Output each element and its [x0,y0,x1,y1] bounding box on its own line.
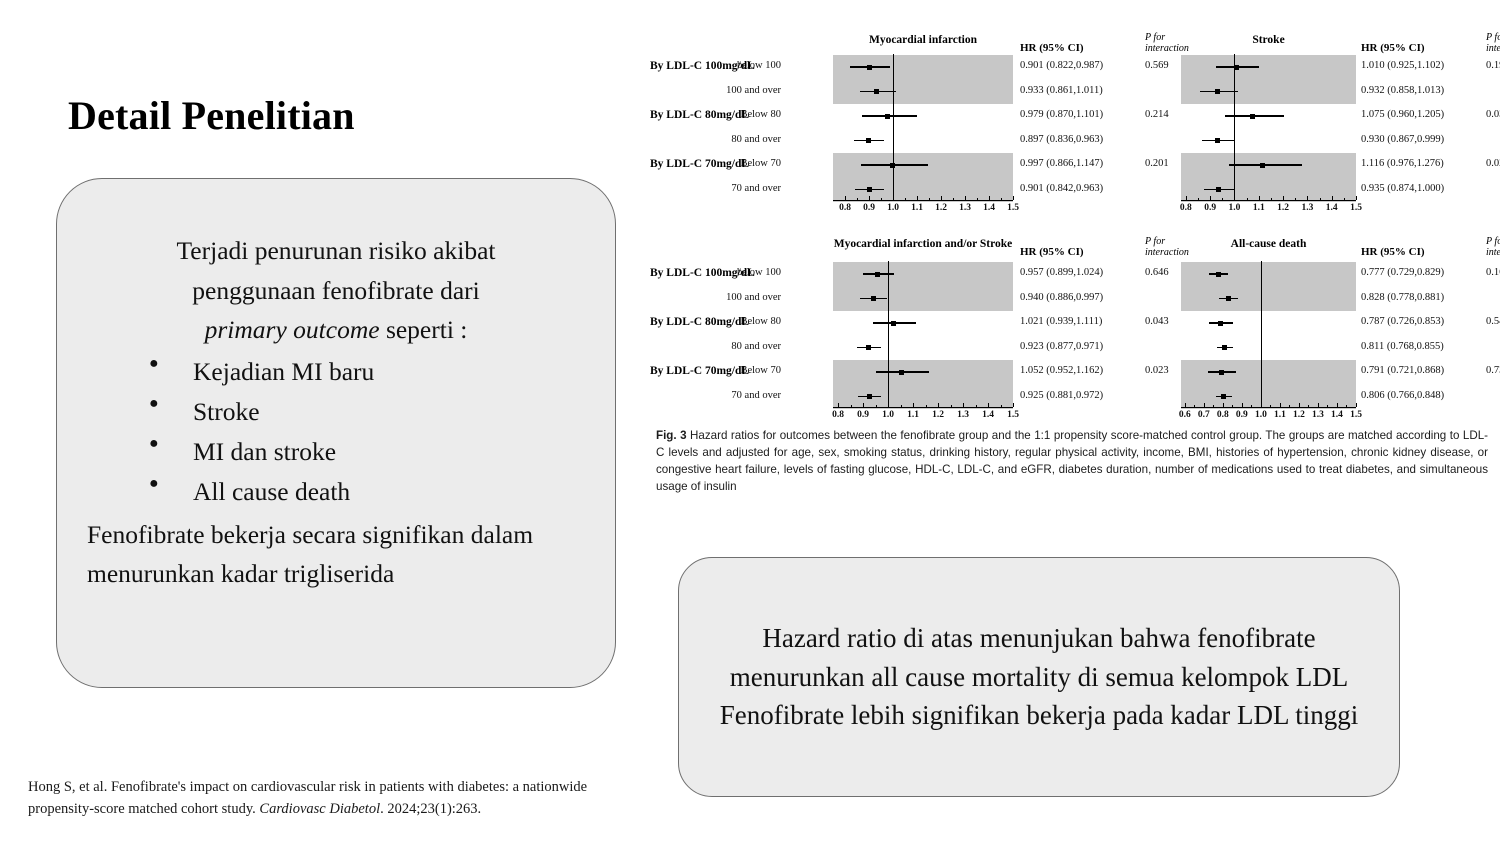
hazard-ratio-point [890,163,895,168]
hazard-ratio-point [874,89,879,94]
x-axis-tick-label: 1.2 [1293,410,1305,420]
hr-column-header-3: HR (95% CI) [1361,246,1425,258]
x-axis-minor-tick [1001,198,1002,201]
x-axis-minor-tick [1346,405,1347,408]
hr-value: 0.901 (0.842,0.963) [1020,183,1103,194]
x-axis-tick-label: 1.3 [959,203,971,213]
x-axis-tick-label: 0.8 [839,203,851,213]
x-axis-line [1181,200,1356,201]
x-axis-minor-tick [1001,405,1002,408]
x-axis-minor-tick [876,405,877,408]
forest-plot-area-2 [833,261,1013,408]
hazard-ratio-point [1226,296,1231,301]
p-header-line-1: P for [1145,32,1189,43]
x-axis-tick [888,403,889,407]
hazard-ratio-point [1260,163,1265,168]
x-axis-minor-tick [926,405,927,408]
x-axis-tick [963,403,964,407]
group-label: By LDL-C 100mg/dL [650,267,755,279]
p-interaction-value: 0.195 [1486,60,1500,71]
x-axis-minor-tick [1213,405,1214,408]
x-axis-tick [1283,196,1284,200]
intro-line-2: penggunaan fenofibrate dari [87,271,585,311]
x-axis-tick-label: 0.6 [1179,410,1191,420]
x-axis-tick-label: 0.9 [1204,203,1216,213]
figure-caption: Fig. 3 Hazard ratios for outcomes betwee… [656,427,1488,496]
shaded-band [833,360,1013,409]
x-axis-minor-tick [1295,198,1296,201]
group-label: By LDL-C 80mg/dL [650,316,749,328]
x-axis-tick [941,196,942,200]
x-axis-tick [869,196,870,200]
shaded-band [1181,262,1356,311]
x-axis-tick-label: 1.0 [887,203,899,213]
hr-column-header-1: HR (95% CI) [1361,42,1425,54]
p-header-line-2: interaction [1145,247,1189,258]
group-label: By LDL-C 80mg/dL [650,109,749,121]
null-reference-line [888,261,889,408]
hr-value: 0.979 (0.870,1.101) [1020,109,1103,120]
p-interaction-value: 0.043 [1145,316,1169,327]
hazard-ratio-point [1222,345,1227,350]
list-item: Kejadian MI baru [87,352,585,392]
hazard-ratio-point [867,394,872,399]
hr-value: 0.940 (0.886,0.997) [1020,292,1103,303]
x-axis-tick-label: 0.9 [1236,410,1248,420]
x-axis-line [833,200,1013,201]
x-axis-minor-tick [901,405,902,408]
hr-value: 0.925 (0.881,0.972) [1020,390,1103,401]
x-axis-tick-label: 1.2 [1277,203,1289,213]
intro-line-3-rest: seperti : [380,315,468,344]
x-axis-tick-label: 1.4 [982,410,994,420]
x-axis-minor-tick [951,405,952,408]
x-axis-tick [838,403,839,407]
shaded-band [1181,153,1356,202]
x-axis-tick-label: 1.1 [911,203,923,213]
x-axis-tick-label: 1.1 [1253,203,1265,213]
row-sublabel: 100 and over [701,292,781,303]
hazard-ratio-point [1216,187,1221,192]
hazard-ratio-point [1250,114,1255,119]
x-axis-minor-tick [976,405,977,408]
x-axis-minor-tick [929,198,930,201]
x-axis-tick [1356,196,1357,200]
row-sublabel: 100 and over [701,85,781,96]
hazard-ratio-point [871,296,876,301]
x-axis-tick-label: 1.1 [907,410,919,420]
x-axis-tick-label: 1.3 [1301,203,1313,213]
x-axis-tick [1185,403,1186,407]
x-axis-minor-tick [977,198,978,201]
hr-value: 1.052 (0.952,1.162) [1020,365,1103,376]
hr-value: 1.021 (0.939,1.111) [1020,316,1102,327]
x-axis-tick [845,196,846,200]
hr-value: 1.116 (0.976,1.276) [1361,158,1444,169]
x-axis-tick-label: 1.2 [935,203,947,213]
p-header-line-1: P for [1145,236,1189,247]
x-axis-tick-label: 1.5 [1007,410,1019,420]
x-axis-minor-tick [857,198,858,201]
p-interaction-value: 0.646 [1145,267,1169,278]
figure-caption-label: Fig. 3 [656,429,687,442]
citation-journal: Cardiovasc Diabetol [259,801,380,817]
x-axis-tick [965,196,966,200]
intro-line-1: Terjadi penurunan risiko akibat [87,231,585,271]
p-header-line-1: P for [1486,236,1500,247]
hazard-ratio-point [891,321,896,326]
hr-value: 1.075 (0.960,1.205) [1361,109,1444,120]
hr-column-header-0: HR (95% CI) [1020,42,1084,54]
x-axis-tick-label: 1.4 [1326,203,1338,213]
hr-value: 0.897 (0.836,0.963) [1020,134,1103,145]
x-axis-tick [1280,403,1281,407]
conclusion-text: Hazard ratio di atas menunjukan bahwa fe… [679,619,1399,735]
hazard-ratio-point [1215,89,1220,94]
null-reference-line [1261,261,1262,408]
x-axis-minor-tick [1320,198,1321,201]
hazard-ratio-point [875,272,880,277]
null-reference-line [893,54,894,201]
hazard-ratio-point [867,65,872,70]
shaded-band [833,262,1013,311]
x-axis-tick-label: 1.0 [1255,410,1267,420]
x-axis-tick-label: 1.3 [957,410,969,420]
hazard-ratio-point [1216,272,1221,277]
x-axis-tick-label: 0.9 [863,203,875,213]
x-axis-tick [938,403,939,407]
hazard-ratio-point [1234,65,1239,70]
x-axis-tick [863,403,864,407]
p-interaction-value: 0.214 [1145,109,1169,120]
group-label: By LDL-C 70mg/dL [650,365,749,377]
list-item: Stroke [87,392,585,432]
x-axis-minor-tick [881,198,882,201]
x-axis-minor-tick [953,198,954,201]
p-interaction-value: 0.023 [1145,365,1169,376]
x-axis-minor-tick [1289,405,1290,408]
shaded-band [1181,55,1356,104]
x-axis-tick-label: 0.7 [1198,410,1210,420]
x-axis-tick-label: 1.5 [1007,203,1019,213]
x-axis-tick-label: 1.5 [1350,203,1362,213]
x-axis-tick [989,196,990,200]
x-axis-tick [1261,403,1262,407]
row-sublabel: 70 and over [701,390,781,401]
p-interaction-value: 0.034 [1486,109,1500,120]
figure-caption-text: Hazard ratios for outcomes between the f… [656,429,1488,493]
hr-value: 0.935 (0.874,1.000) [1361,183,1444,194]
p-interaction-value: 0.735 [1486,365,1500,376]
x-axis-minor-tick [1344,198,1345,201]
x-axis-tick-label: 0.9 [857,410,869,420]
hr-value: 1.010 (0.925,1.102) [1361,60,1444,71]
shaded-band [833,153,1013,202]
p-header-line-1: P for [1486,32,1500,43]
row-sublabel: 80 and over [701,341,781,352]
x-axis-tick-label: 0.8 [1180,203,1192,213]
group-label: By LDL-C 100mg/dL [650,60,755,72]
forest-plot-area-0 [833,54,1013,201]
x-axis-minor-tick [905,198,906,201]
x-axis-minor-tick [1222,198,1223,201]
x-axis-tick [893,196,894,200]
x-axis-tick [913,403,914,407]
hazard-ratio-point [899,370,904,375]
hazard-ratio-point [866,138,871,143]
hr-value: 0.933 (0.861,1.011) [1020,85,1103,96]
x-axis-tick-label: 1.2 [932,410,944,420]
x-axis-tick [1186,196,1187,200]
x-axis-tick [1204,403,1205,407]
hr-value: 0.828 (0.778,0.881) [1361,292,1444,303]
p-interaction-value: 0.168 [1486,267,1500,278]
x-axis-tick-label: 1.0 [882,410,894,420]
x-axis-tick-label: 1.4 [1331,410,1343,420]
shaded-band [833,55,1013,104]
x-axis-minor-tick [1308,405,1309,408]
x-axis-tick-label: 1.3 [1312,410,1324,420]
hazard-ratio-point [1218,321,1223,326]
x-axis-tick [1356,403,1357,407]
hazard-ratio-point [866,345,871,350]
hazard-ratio-point [1215,138,1220,143]
list-item: All cause death [87,472,585,512]
p-interaction-column-header-0: P forinteraction [1145,32,1189,54]
hr-column-header-2: HR (95% CI) [1020,246,1084,258]
x-axis-tick [1307,196,1308,200]
x-axis-minor-tick [1251,405,1252,408]
panel-title-1: Stroke [1252,34,1284,46]
x-axis-tick-label: 0.8 [832,410,844,420]
panel-title-3: All-cause death [1231,238,1307,250]
citation: Hong S, et al. Fenofibrate's impact on c… [28,777,628,821]
hr-value: 0.901 (0.822,0.987) [1020,60,1103,71]
x-axis-tick [1013,403,1014,407]
p-interaction-value: 0.021 [1486,158,1500,169]
conclusion-box: Hazard ratio di atas menunjukan bahwa fe… [678,557,1400,797]
hr-value: 0.957 (0.899,1.024) [1020,267,1103,278]
hazard-ratio-point [1221,394,1226,399]
hr-value: 0.791 (0.721,0.868) [1361,365,1444,376]
hr-value: 0.811 (0.768,0.855) [1361,341,1444,352]
page-title: Detail Penelitian [68,92,355,139]
x-axis-minor-tick [1271,198,1272,201]
hr-value: 0.930 (0.867,0.999) [1361,134,1444,145]
x-axis-tick [1013,196,1014,200]
x-axis-minor-tick [851,405,852,408]
x-axis-tick-label: 1.4 [983,203,995,213]
hazard-ratio-point [885,114,890,119]
x-axis-tick [988,403,989,407]
p-interaction-column-header-3: P forinteraction [1486,236,1500,258]
forest-plot-area-3 [1181,261,1356,408]
outcome-list: Kejadian MI baru Stroke MI dan stroke Al… [87,352,585,513]
detail-penelitian-content: Terjadi penurunan risiko akibat pengguna… [57,179,615,687]
hr-value: 0.777 (0.729,0.829) [1361,267,1444,278]
x-axis-tick [917,196,918,200]
list-item: MI dan stroke [87,432,585,472]
primary-outcome-emphasis: primary outcome [205,315,380,344]
hazard-ratio-point [867,187,872,192]
x-axis-tick [1337,403,1338,407]
detail-penelitian-box: Terjadi penurunan risiko akibat pengguna… [56,178,616,688]
x-axis-minor-tick [1232,405,1233,408]
x-axis-minor-tick [1270,405,1271,408]
x-axis-minor-tick [1247,198,1248,201]
panel-title-2: Myocardial infarction and/or Stroke [834,238,1013,250]
hr-value: 0.997 (0.866,1.147) [1020,158,1103,169]
x-axis-tick [1332,196,1333,200]
x-axis-tick [1318,403,1319,407]
x-axis-tick [1259,196,1260,200]
p-header-line-2: interaction [1145,43,1189,54]
p-header-line-2: interaction [1486,43,1500,54]
panel-title-0: Myocardial infarction [869,34,977,46]
p-interaction-value: 0.549 [1486,316,1500,327]
p-interaction-value: 0.201 [1145,158,1169,169]
x-axis-minor-tick [1194,405,1195,408]
closing-paragraph: Fenofibrate bekerja secara signifikan da… [87,515,585,594]
hr-value: 0.806 (0.766,0.848) [1361,390,1444,401]
null-reference-line [1234,54,1235,201]
intro-line-3: primary outcome seperti : [87,310,585,350]
x-axis-tick [1210,196,1211,200]
hazard-ratio-point [1219,370,1224,375]
x-axis-line [833,407,1013,408]
x-axis-tick [1242,403,1243,407]
x-axis-tick [1299,403,1300,407]
p-header-line-2: interaction [1486,247,1500,258]
x-axis-tick [1234,196,1235,200]
shaded-band [1181,360,1356,409]
x-axis-tick-label: 1.0 [1229,203,1241,213]
row-sublabel: 70 and over [701,183,781,194]
p-interaction-column-header-1: P forinteraction [1486,32,1500,54]
hr-value: 0.923 (0.877,0.971) [1020,341,1103,352]
p-interaction-value: 0.569 [1145,60,1169,71]
group-label: By LDL-C 70mg/dL [650,158,749,170]
hr-value: 0.932 (0.858,1.013) [1361,85,1444,96]
x-axis-line [1181,407,1356,408]
hr-value: 0.787 (0.726,0.853) [1361,316,1444,327]
x-axis-tick-label: 0.8 [1217,410,1229,420]
x-axis-tick-label: 1.1 [1274,410,1286,420]
x-axis-minor-tick [1198,198,1199,201]
x-axis-minor-tick [1327,405,1328,408]
citation-part-2: . 2024;23(1):263. [380,801,481,817]
row-sublabel: 80 and over [701,134,781,145]
forest-plot-area-1 [1181,54,1356,201]
p-interaction-column-header-2: P forinteraction [1145,236,1189,258]
x-axis-tick [1223,403,1224,407]
x-axis-tick-label: 1.5 [1350,410,1362,420]
